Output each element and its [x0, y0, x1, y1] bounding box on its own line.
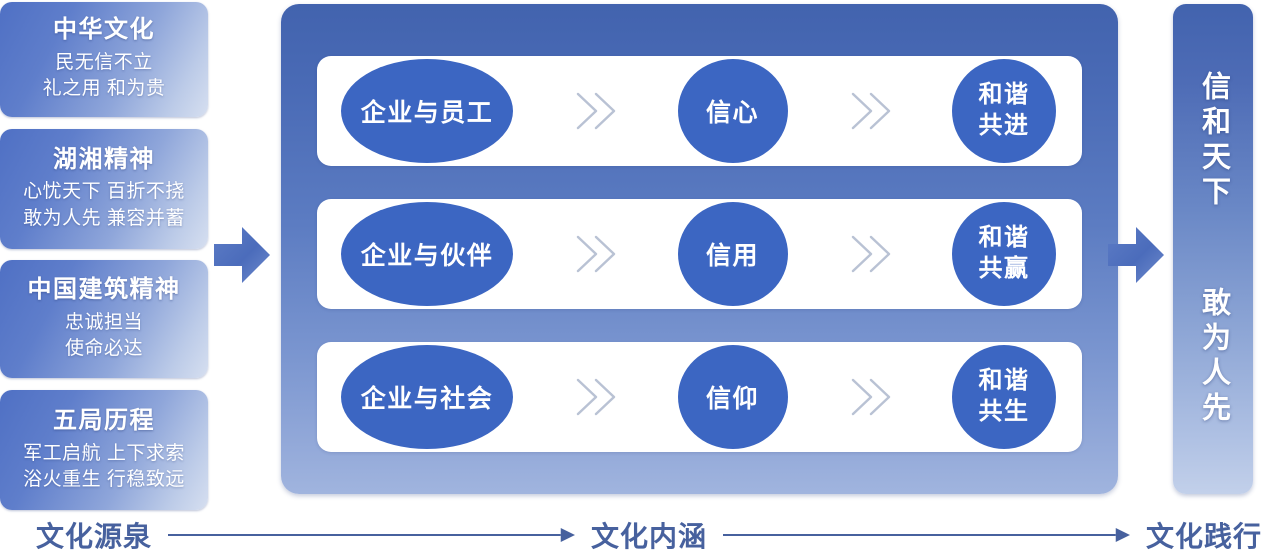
flow-value-node[interactable]: 信仰: [678, 345, 788, 449]
source-card-line: 军工启航 上下求索: [6, 441, 202, 467]
source-card-line: 使命必达: [6, 336, 202, 362]
source-card-line: 礼之用 和为贵: [6, 76, 202, 102]
source-card-title: 中华文化: [6, 15, 202, 46]
chevron-gap: [513, 223, 678, 285]
flow-outcome-line: 和谐: [979, 80, 1030, 111]
flow-outcome-line: 和谐: [979, 366, 1030, 397]
chevron-gap: [788, 223, 953, 285]
flow-outcome-line: 共赢: [979, 254, 1030, 285]
flow-outcome-node[interactable]: 和谐 共赢: [952, 202, 1056, 306]
right-arrow-icon: [214, 223, 270, 287]
right-arrow-icon: [1108, 223, 1164, 287]
flow-row[interactable]: 企业与伙伴 信用 和谐 共赢: [317, 199, 1082, 309]
culture-system-diagram: 中华文化 民无信不立 礼之用 和为贵 湖湘精神 心忧天下 百折不挠 敢为人先 兼…: [0, 0, 1280, 558]
source-card-huxiang-spirit[interactable]: 湖湘精神 心忧天下 百折不挠 敢为人先 兼容并蓄: [0, 129, 208, 249]
flow-outcome-line: 和谐: [979, 223, 1030, 254]
flow-value-node[interactable]: 信用: [678, 202, 788, 306]
culture-practice-panel[interactable]: 信和天下 敢为人先: [1173, 4, 1253, 494]
flow-subject-node[interactable]: 企业与员工: [341, 59, 513, 163]
flow-subject-node[interactable]: 企业与社会: [341, 345, 513, 449]
source-card-china-construction-spirit[interactable]: 中国建筑精神 忠诚担当 使命必达: [0, 260, 208, 378]
source-card-title: 五局历程: [6, 406, 202, 437]
caption-arrow-connector: [723, 524, 1130, 546]
flow-outcome-node[interactable]: 和谐 共生: [952, 345, 1056, 449]
flow-outcome-line: 共生: [979, 397, 1030, 428]
source-card-title: 湖湘精神: [6, 145, 202, 176]
flow-subject-node[interactable]: 企业与伙伴: [341, 202, 513, 306]
culture-connotation-panel: 企业与员工 信心 和谐 共进: [281, 4, 1118, 494]
flow-value-node[interactable]: 信心: [678, 59, 788, 163]
double-chevron-right-icon: [564, 80, 626, 142]
source-card-line: 浴火重生 行稳致远: [6, 467, 202, 493]
double-chevron-right-icon: [839, 366, 901, 428]
caption-strip: 文化源泉 文化内涵 文化践行: [0, 512, 1280, 558]
source-card-line: 心忧天下 百折不挠: [6, 179, 202, 205]
source-card-title: 中国建筑精神: [6, 275, 202, 306]
chevron-gap: [788, 80, 953, 142]
source-card-line: 忠诚担当: [6, 310, 202, 336]
flow-outcome-line: 共进: [979, 111, 1030, 142]
source-card-line: 敢为人先 兼容并蓄: [6, 206, 202, 232]
double-chevron-right-icon: [839, 80, 901, 142]
double-chevron-right-icon: [564, 223, 626, 285]
culture-source-column: 中华文化 民无信不立 礼之用 和为贵 湖湘精神 心忧天下 百折不挠 敢为人先 兼…: [0, 2, 208, 510]
caption-culture-source: 文化源泉: [36, 515, 152, 555]
double-chevron-right-icon: [564, 366, 626, 428]
source-card-wuju-history[interactable]: 五局历程 军工启航 上下求索 浴火重生 行稳致远: [0, 390, 208, 510]
source-card-line: 民无信不立: [6, 50, 202, 76]
caption-culture-connotation: 文化内涵: [591, 515, 707, 555]
flow-row[interactable]: 企业与社会 信仰 和谐 共生: [317, 342, 1082, 452]
chevron-gap: [513, 80, 678, 142]
chevron-gap: [788, 366, 953, 428]
caption-arrow-connector: [168, 524, 575, 546]
culture-practice-slogan: 信和天下 敢为人先: [1199, 71, 1228, 427]
double-chevron-right-icon: [839, 223, 901, 285]
chevron-gap: [513, 366, 678, 428]
flow-outcome-node[interactable]: 和谐 共进: [952, 59, 1056, 163]
source-card-chinese-culture[interactable]: 中华文化 民无信不立 礼之用 和为贵: [0, 2, 208, 117]
flow-row[interactable]: 企业与员工 信心 和谐 共进: [317, 56, 1082, 166]
caption-culture-practice: 文化践行: [1146, 515, 1262, 555]
